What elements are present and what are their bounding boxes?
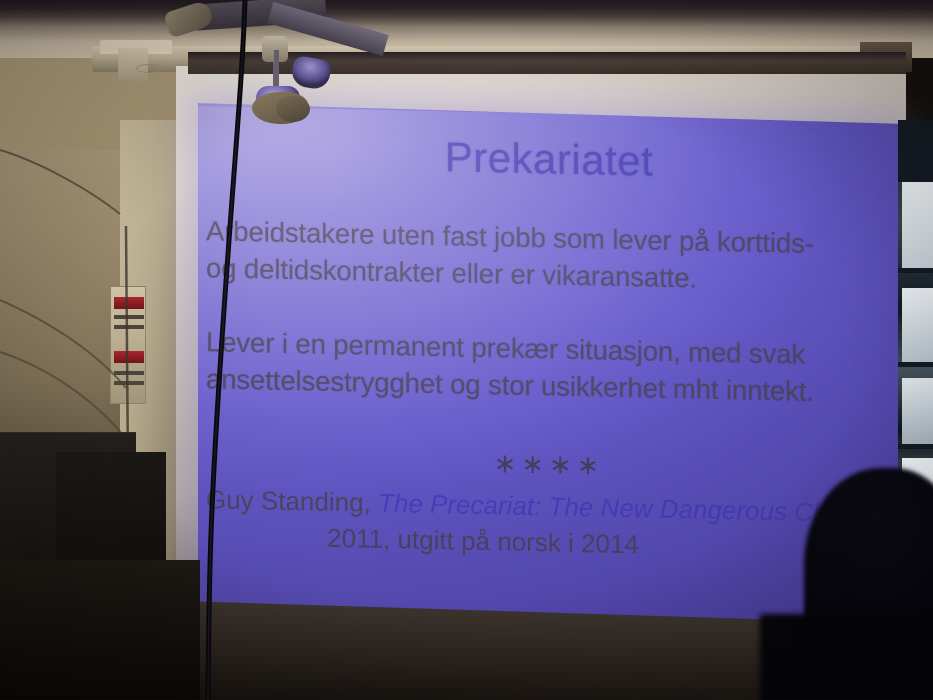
window-mullion [898,268,933,273]
slide-title: Prekariatet [198,128,900,191]
alarm-indicator-lower [114,351,144,363]
window-pane [902,182,933,268]
alarm-indicator-upper [114,297,144,309]
citation-author: Guy Standing, [206,484,378,518]
floor-shadow [0,560,200,700]
alarm-panel [110,286,146,404]
ceiling-shadow [0,0,933,26]
lamp-cluster-blob-secondary [276,96,310,122]
citation-work-title: The Precariat: The New Dangerous Cla [378,488,833,528]
slide-paragraph-1: Arbeidstakere uten fast jobb som lever p… [206,212,882,301]
projected-slide: Prekariatet Arbeidstakere uten fast jobb… [198,103,900,636]
projection-room-photo: Prekariatet Arbeidstakere uten fast jobb… [0,0,933,700]
slide-body: Arbeidstakere uten fast jobb som lever p… [206,212,882,412]
panel-bar [114,315,144,319]
slide-citation: Guy Standing, The Precariat: The New Dan… [206,482,900,567]
window-pane [902,378,933,444]
window-mullion [898,444,933,449]
track-light-1 [166,6,212,32]
slide-paragraph-2: Lever i en permanent prekær situasjon, m… [206,323,882,412]
beam-fixture [136,64,162,73]
window-mullion [898,362,933,367]
panel-bar [114,381,144,385]
slide-separator-asterisks: ∗∗∗∗ [198,442,900,488]
panel-bar [114,371,144,375]
person-silhouette-shoulders [760,614,933,700]
lamp-stem [274,50,279,86]
panel-bar [114,325,144,329]
window-header [898,120,933,182]
window-pane [902,288,933,362]
